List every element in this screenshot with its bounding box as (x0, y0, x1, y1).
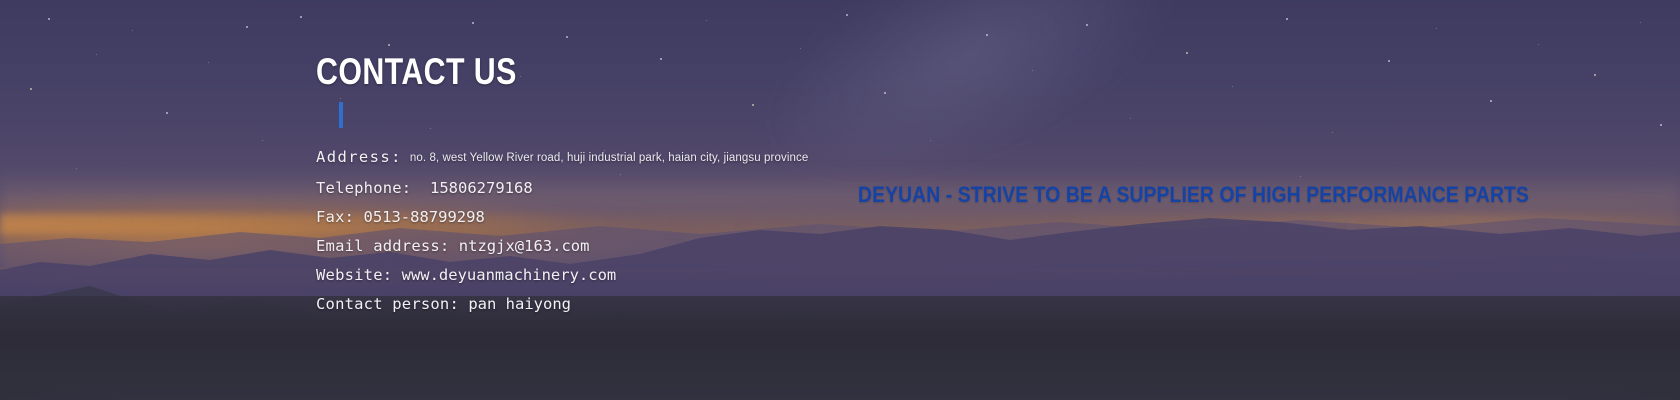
contact-value-fax: 0513-88799298 (363, 208, 484, 226)
contact-label-email: Email address: (316, 237, 449, 255)
contact-line-email: Email address: ntzgjx@163.com (316, 232, 808, 261)
contact-details-list: Address:no. 8, west Yellow River road, h… (316, 143, 808, 319)
contact-value-address: no. 8, west Yellow River road, huji indu… (410, 152, 808, 164)
contact-banner: CONTACT US Address:no. 8, west Yellow Ri… (0, 0, 1680, 400)
company-slogan: DEYUAN - STRIVE TO BE A SUPPLIER OF HIGH… (858, 181, 1529, 209)
contact-value-person: pan haiyong (468, 295, 571, 313)
contact-line-fax: Fax: 0513-88799298 (316, 203, 808, 232)
page-title: CONTACT US (316, 52, 890, 92)
contact-label-website: Website: (316, 266, 392, 284)
contact-line-person: Contact person: pan haiyong (316, 290, 808, 319)
contact-value-telephone[interactable]: 15806279168 (430, 179, 533, 197)
title-accent-bar (339, 102, 343, 128)
contact-value-website[interactable]: www.deyuanmachinery.com (402, 266, 617, 284)
contact-value-email[interactable]: ntzgjx@163.com (459, 237, 590, 255)
contact-label-person: Contact person: (316, 295, 459, 313)
contact-label-fax: Fax: (316, 208, 354, 226)
contact-block: CONTACT US Address:no. 8, west Yellow Ri… (316, 52, 1016, 92)
contact-label-telephone: Telephone: (316, 179, 411, 197)
contact-line-website: Website: www.deyuanmachinery.com (316, 261, 808, 290)
contact-line-address: Address:no. 8, west Yellow River road, h… (316, 143, 808, 174)
contact-label-address: Address: (316, 148, 402, 166)
foreground-silhouette (0, 296, 1680, 400)
contact-line-telephone: Telephone: 15806279168 (316, 174, 808, 203)
